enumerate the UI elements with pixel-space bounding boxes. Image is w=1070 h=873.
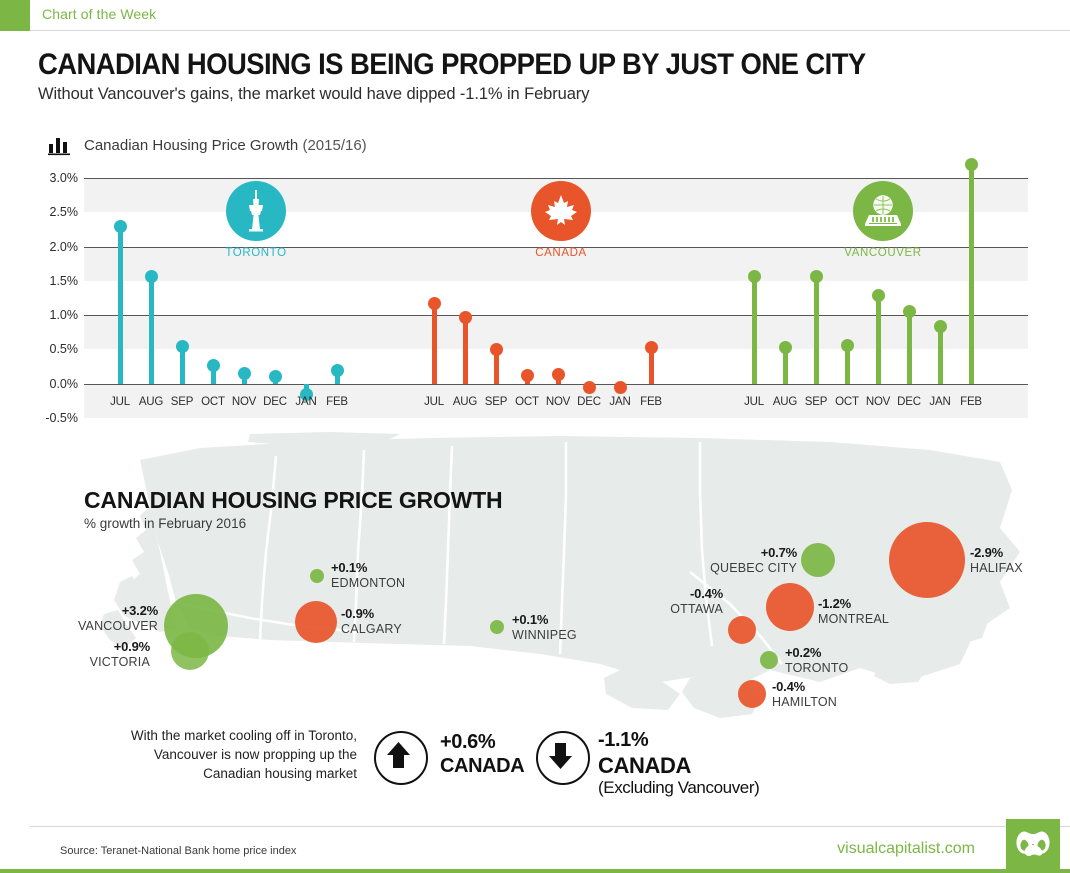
chart-gridline [84,315,1028,316]
map-bubble[interactable] [728,616,756,644]
chart-series-label: VANCOUVER [844,247,921,259]
canada-up-label: CANADA [440,755,524,778]
chart-x-tick-label: AUG [773,396,797,408]
map-bubble-value: +0.2% [785,646,848,661]
map-bubble-city: WINNIPEG [512,628,577,643]
chart-x-tick-label: SEP [485,396,507,408]
chart-x-tick-label: NOV [232,396,256,408]
chart-x-tick-label: JAN [609,396,630,408]
chart-y-axis: 3.0%2.5%2.0%1.5%1.0%0.5%0.0%-0.5% [22,178,78,418]
binoculars-logo [1006,819,1060,873]
chart-x-tick-label: NOV [546,396,570,408]
map-bubble-city: HAMILTON [772,695,837,710]
chart-data-point[interactable] [490,343,503,356]
chart-stem [938,326,943,384]
chart-x-tick-label: FEB [640,396,662,408]
map-bubble-value: -0.4% [772,680,837,695]
map-bubble-city: EDMONTON [331,576,405,591]
map-bubble-label: +0.1%WINNIPEG [512,613,577,642]
chart-x-tick-label: NOV [866,396,890,408]
chart-data-point[interactable] [552,368,565,381]
chart-x-tick-label: OCT [835,396,859,408]
map-bubble-city: MONTREAL [818,612,889,627]
map-bubble[interactable] [171,632,209,670]
arrow-up-badge [374,731,428,785]
chart-data-point[interactable] [614,381,627,394]
chart-of-week-kicker: Chart of the Week [42,6,156,22]
chart-y-tick-label: 3.0% [26,171,78,185]
map-bubble-label: -0.9%CALGARY [341,607,402,636]
map-bubble-city: VANCOUVER [78,619,158,634]
chart-x-tick-label: DEC [897,396,921,408]
chart-data-point[interactable] [207,359,220,372]
chart-y-tick-label: 1.0% [26,308,78,322]
maple-leaf-icon [531,181,591,241]
chart-stem [118,226,123,384]
chart-y-tick-label: 0.5% [26,342,78,356]
chart-stem [752,277,757,384]
chart-data-point[interactable] [176,340,189,353]
map-bubble[interactable] [310,569,324,583]
chart-stem [969,164,974,383]
chart-y-tick-label: -0.5% [26,411,78,425]
chart-data-point[interactable] [269,370,282,383]
map-bubble-label: +0.7%QUEBEC CITY [710,546,797,575]
map-bubble[interactable] [889,522,965,598]
map-title: CANADIAN HOUSING PRICE GROWTH [84,487,502,514]
source-note: Source: Teranet-National Bank home price… [60,845,296,857]
chart-x-tick-label: DEC [263,396,287,408]
map-bubble-label: -0.4%OTTAWA [670,587,723,616]
chart-data-point[interactable] [748,270,761,283]
chart-x-tick-label: JAN [295,396,316,408]
map-bubble-label: +0.9%VICTORIA [90,640,150,669]
chart-x-tick-label: SEP [805,396,827,408]
map-bubble-city: HALIFAX [970,561,1023,576]
chart-plot-area: JULAUGSEPOCTNOVDECJANFEBTORONTOJULAUGSEP… [84,178,1028,418]
map-bubble-label: -0.4%HAMILTON [772,680,837,709]
chart-stem [814,277,819,384]
map-bubble-city: OTTAWA [670,602,723,617]
chart-data-point[interactable] [521,369,534,382]
chart-x-tick-label: JAN [929,396,950,408]
map-bubble-label: +0.2%TORONTO [785,646,848,675]
page-title: CANADIAN HOUSING IS BEING PROPPED UP BY … [38,48,866,82]
chart-data-point[interactable] [872,289,885,302]
map-bubble-value: +0.1% [331,561,405,576]
infographic-root: Chart of the Week CANADIAN HOUSING IS BE… [0,0,1070,873]
map-bubble[interactable] [738,680,766,708]
footer-accent-bar [0,869,1070,873]
map-bubble-city: TORONTO [785,661,848,676]
chart-title-years: (2015/16) [302,137,366,154]
bar-chart-icon [48,136,74,156]
map-bubble[interactable] [766,583,814,631]
callout-text: With the market cooling off in Toronto, … [95,726,357,783]
canada-up-value: +0.6% [440,731,495,754]
map-bubble-value: -1.2% [818,597,889,612]
map-bubble-city: VICTORIA [90,655,150,670]
chart-x-tick-label: OCT [201,396,225,408]
page-subtitle: Without Vancouver's gains, the market wo… [38,85,589,104]
chart-stem [876,295,881,383]
chart-data-point[interactable] [238,367,251,380]
chart-data-point[interactable] [114,220,127,233]
chart-x-tick-label: JUL [744,396,764,408]
map-bubble[interactable] [295,601,337,643]
header-divider [30,30,1070,31]
chart-y-tick-label: 2.5% [26,205,78,219]
chart-data-point[interactable] [934,320,947,333]
chart-y-tick-label: 0.0% [26,377,78,391]
chart-x-tick-label: AUG [139,396,163,408]
chart-x-tick-label: AUG [453,396,477,408]
map-bubble[interactable] [490,620,504,634]
chart-x-tick-label: FEB [960,396,982,408]
map-bubble-label: -2.9%HALIFAX [970,546,1023,575]
arrow-down-icon [538,733,583,778]
cn-tower-icon [226,181,286,241]
chart-x-tick-label: DEC [577,396,601,408]
map-bubble-value: +3.2% [78,604,158,619]
chart-data-point[interactable] [428,297,441,310]
chart-series-label: CANADA [535,247,587,259]
chart-x-tick-label: SEP [171,396,193,408]
map-subtitle: % growth in February 2016 [84,516,246,531]
chart-y-tick-label: 1.5% [26,274,78,288]
chart-title: Canadian Housing Price Growth (2015/16) [84,137,367,154]
map-bubble-value: +0.1% [512,613,577,628]
chart-gridline [84,178,1028,179]
map-bubble-label: -1.2%MONTREAL [818,597,889,626]
chart-data-point[interactable] [583,381,596,394]
chart-x-tick-label: JUL [110,396,130,408]
chart-stem [432,303,437,383]
website-url[interactable]: visualcapitalist.com [837,840,975,858]
chart-x-tick-label: FEB [326,396,348,408]
footer-divider [30,826,1070,827]
arrow-down-badge [536,731,590,785]
chart-data-point[interactable] [145,270,158,283]
map-bubble[interactable] [801,543,835,577]
chart-data-point[interactable] [841,339,854,352]
map-bubble-value: +0.7% [710,546,797,561]
map-bubble-value: -0.4% [670,587,723,602]
chart-x-tick-label: JUL [424,396,444,408]
map-bubble-value: -2.9% [970,546,1023,561]
canada-down-value: -1.1% [598,729,648,752]
canada-down-note: (Excluding Vancouver) [598,778,759,798]
chart-title-text: Canadian Housing Price Growth [84,137,298,154]
chart-data-point[interactable] [810,270,823,283]
chart-of-week-accent-bar [0,0,30,31]
chart-stem [907,311,912,384]
chart-data-point[interactable] [645,341,658,354]
chart-data-point[interactable] [965,158,978,171]
chart-data-point[interactable] [459,311,472,324]
chart-data-point[interactable] [331,364,344,377]
chart-band [84,315,1028,349]
chart-series-label: TORONTO [225,247,286,259]
map-bubble-value: +0.9% [90,640,150,655]
chart-stem [463,318,468,384]
map-bubble-label: +3.2%VANCOUVER [78,604,158,633]
chart-data-point[interactable] [903,305,916,318]
map-bubble-city: CALGARY [341,622,402,637]
chart-y-tick-label: 2.0% [26,240,78,254]
map-bubble[interactable] [760,651,778,669]
chart-x-tick-label: OCT [515,396,539,408]
science-world-icon [853,181,913,241]
chart-data-point[interactable] [779,341,792,354]
chart-stem [149,276,154,384]
canada-down-label: CANADA [598,753,691,779]
map-bubble-city: QUEBEC CITY [710,561,797,576]
arrow-up-icon [376,733,421,778]
map-bubble-value: -0.9% [341,607,402,622]
map-bubble-label: +0.1%EDMONTON [331,561,405,590]
chart-gridline [84,384,1028,385]
